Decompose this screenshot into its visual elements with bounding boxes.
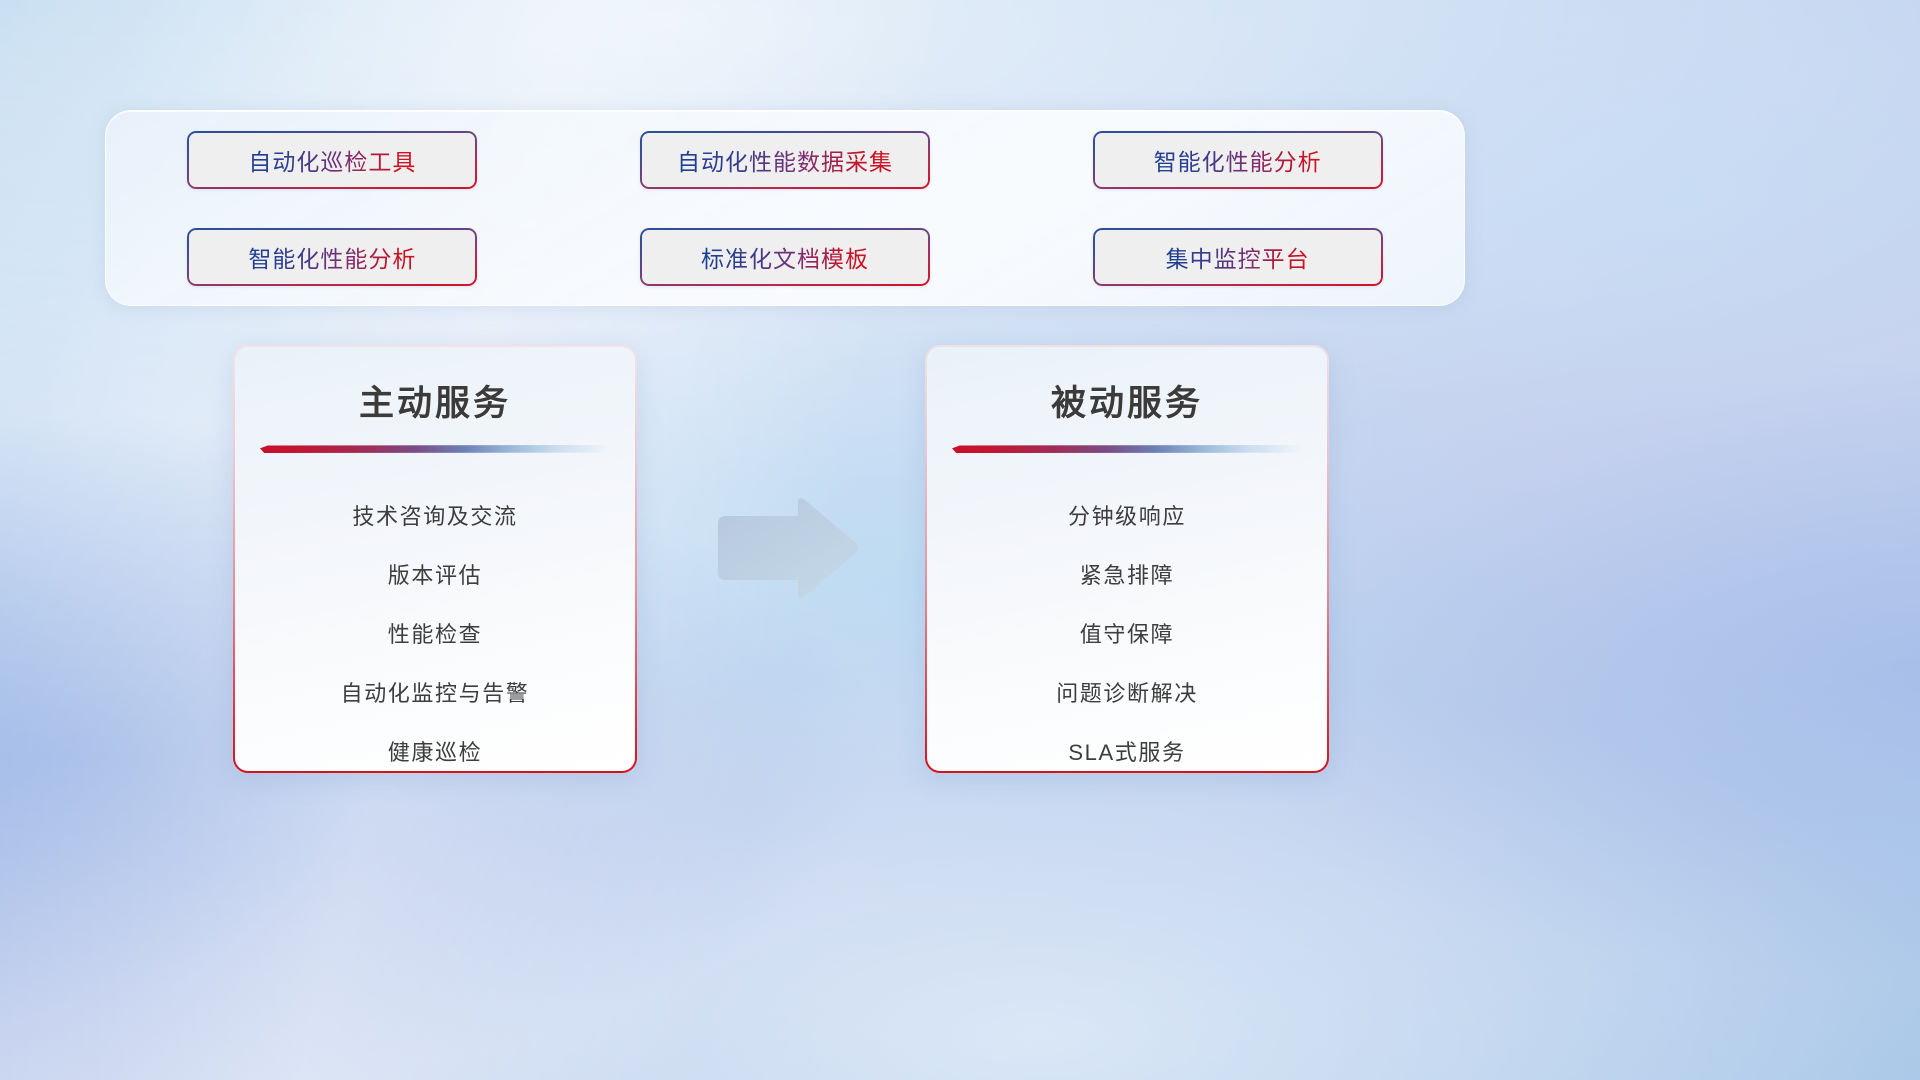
- service-card-reactive[interactable]: 被动服务 分钟级响应 紧急排障 值守保障 问题诊断解决 SLA式服务: [925, 345, 1329, 773]
- service-list-item: SLA式服务: [1068, 723, 1185, 771]
- service-list-item: 问题诊断解决: [1056, 664, 1198, 723]
- capability-tag-1[interactable]: 自动化巡检工具: [187, 131, 477, 189]
- capability-panel: 自动化巡检工具 自动化性能数据采集 智能化性能分析 智能化性能分析 标准化文档模…: [105, 110, 1465, 306]
- capability-tag-2[interactable]: 自动化性能数据采集: [640, 131, 930, 189]
- service-list-item: 分钟级响应: [1068, 487, 1186, 546]
- service-list-item: 紧急排障: [1080, 546, 1174, 605]
- service-list-item: 技术咨询及交流: [352, 487, 517, 546]
- divider-gradient-bar: [952, 445, 1302, 453]
- capability-tag-3[interactable]: 智能化性能分析: [1093, 131, 1383, 189]
- service-card-body: 主动服务 技术咨询及交流 版本评估 性能检查 自动化监控与告警 健康巡检: [235, 347, 635, 771]
- capability-tag-label: 标准化文档模板: [701, 240, 869, 274]
- service-list-item: 健康巡检: [388, 723, 482, 771]
- capability-tag-label: 集中监控平台: [1166, 240, 1310, 274]
- service-list-item: 版本评估: [388, 546, 482, 605]
- service-card-divider: [952, 445, 1302, 453]
- service-list-item: 自动化监控与告警: [341, 664, 530, 723]
- capability-tag-6[interactable]: 集中监控平台: [1093, 228, 1383, 286]
- flow-arrow: [712, 496, 860, 601]
- service-card-title: 主动服务: [235, 375, 635, 426]
- service-list-item: 性能检查: [388, 605, 482, 664]
- capability-tag-label: 智能化性能分析: [1154, 143, 1322, 177]
- capability-tag-grid: 自动化巡检工具 自动化性能数据采集 智能化性能分析 智能化性能分析 标准化文档模…: [106, 111, 1464, 305]
- service-item-list: 技术咨询及交流 版本评估 性能检查 自动化监控与告警 健康巡检: [235, 487, 635, 771]
- service-item-list: 分钟级响应 紧急排障 值守保障 问题诊断解决 SLA式服务: [927, 487, 1327, 771]
- service-list-item: 值守保障: [1080, 605, 1174, 664]
- capability-tag-label: 自动化巡检工具: [248, 143, 416, 177]
- service-card-title: 被动服务: [927, 375, 1327, 426]
- arrow-right-icon: [712, 496, 860, 601]
- capability-tag-4[interactable]: 智能化性能分析: [187, 228, 477, 286]
- capability-tag-label: 自动化性能数据采集: [677, 143, 893, 177]
- capability-tag-label: 智能化性能分析: [248, 240, 416, 274]
- service-card-body: 被动服务 分钟级响应 紧急排障 值守保障 问题诊断解决 SLA式服务: [927, 347, 1327, 771]
- service-card-divider: [260, 445, 610, 453]
- capability-tag-5[interactable]: 标准化文档模板: [640, 228, 930, 286]
- service-card-proactive[interactable]: 主动服务 技术咨询及交流 版本评估 性能检查 自动化监控与告警 健康巡检: [233, 345, 637, 773]
- divider-gradient-bar: [260, 445, 610, 453]
